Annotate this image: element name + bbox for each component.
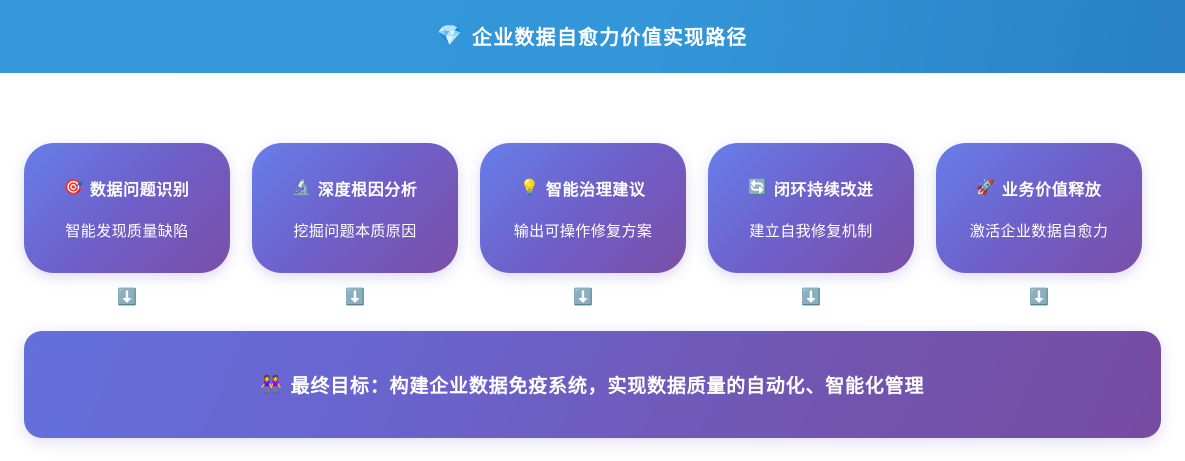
step-card-header: 🔬 深度根因分析 — [292, 176, 417, 200]
step-column-5: 🚀 业务价值释放 激活企业数据自愈力 ⬇️ — [936, 143, 1142, 308]
target-icon: 🎯 — [64, 180, 83, 195]
refresh-cycle-icon: 🔄 — [748, 180, 767, 195]
down-arrow-icon: ⬇️ — [117, 288, 137, 308]
microscope-icon: 🔬 — [292, 180, 311, 195]
step-card-header: 🔄 闭环持续改进 — [748, 176, 873, 200]
step-card-data-problem-identification[interactable]: 🎯 数据问题识别 智能发现质量缺陷 — [24, 143, 230, 273]
final-goal-text: 最终目标：构建企业数据免疫系统，实现数据质量的自动化、智能化管理 — [291, 371, 925, 398]
down-arrow-icon: ⬇️ — [801, 288, 821, 308]
step-card-description: 智能发现质量缺陷 — [65, 220, 188, 241]
step-card-description: 激活企业数据自愈力 — [970, 220, 1109, 241]
step-card-header: 🎯 数据问题识别 — [64, 176, 189, 200]
step-card-description: 建立自我修复机制 — [749, 220, 872, 241]
step-card-closed-loop-improvement[interactable]: 🔄 闭环持续改进 建立自我修复机制 — [708, 143, 914, 273]
step-card-title: 数据问题识别 — [90, 176, 190, 200]
step-column-2: 🔬 深度根因分析 挖掘问题本质原因 ⬇️ — [252, 143, 458, 308]
header-banner: 💎 企业数据自愈力价值实现路径 — [0, 0, 1185, 73]
lightbulb-icon: 💡 — [520, 180, 539, 195]
people-holding-hands-icon: 👭 — [261, 376, 282, 393]
down-arrow-icon: ⬇️ — [573, 288, 593, 308]
step-column-4: 🔄 闭环持续改进 建立自我修复机制 ⬇️ — [708, 143, 914, 308]
step-column-3: 💡 智能治理建议 输出可操作修复方案 ⬇️ — [480, 143, 686, 308]
infographic-page: 💎 企业数据自愈力价值实现路径 🎯 数据问题识别 智能发现质量缺陷 ⬇️ 🔬 深… — [0, 0, 1185, 461]
gem-icon: 💎 — [437, 26, 462, 46]
step-column-1: 🎯 数据问题识别 智能发现质量缺陷 ⬇️ — [24, 143, 230, 308]
step-card-header: 🚀 业务价值释放 — [976, 176, 1101, 200]
step-card-header: 💡 智能治理建议 — [520, 176, 645, 200]
steps-row: 🎯 数据问题识别 智能发现质量缺陷 ⬇️ 🔬 深度根因分析 挖掘问题本质原因 ⬇… — [24, 143, 1161, 308]
step-card-title: 闭环持续改进 — [774, 176, 874, 200]
rocket-icon: 🚀 — [976, 180, 995, 195]
step-card-title: 业务价值释放 — [1002, 176, 1102, 200]
step-card-root-cause-analysis[interactable]: 🔬 深度根因分析 挖掘问题本质原因 — [252, 143, 458, 273]
final-goal-banner: 👭 最终目标：构建企业数据免疫系统，实现数据质量的自动化、智能化管理 — [24, 331, 1161, 438]
step-card-description: 挖掘问题本质原因 — [293, 220, 416, 241]
page-title: 企业数据自愈力价值实现路径 — [472, 21, 748, 50]
step-card-business-value-release[interactable]: 🚀 业务价值释放 激活企业数据自愈力 — [936, 143, 1142, 273]
step-card-description: 输出可操作修复方案 — [514, 220, 653, 241]
step-card-title: 深度根因分析 — [318, 176, 418, 200]
header-content: 💎 企业数据自愈力价值实现路径 — [437, 21, 748, 50]
step-card-title: 智能治理建议 — [546, 176, 646, 200]
step-card-governance-advice[interactable]: 💡 智能治理建议 输出可操作修复方案 — [480, 143, 686, 273]
down-arrow-icon: ⬇️ — [345, 288, 365, 308]
final-goal-content: 👭 最终目标：构建企业数据免疫系统，实现数据质量的自动化、智能化管理 — [261, 371, 925, 398]
down-arrow-icon: ⬇️ — [1029, 288, 1049, 308]
